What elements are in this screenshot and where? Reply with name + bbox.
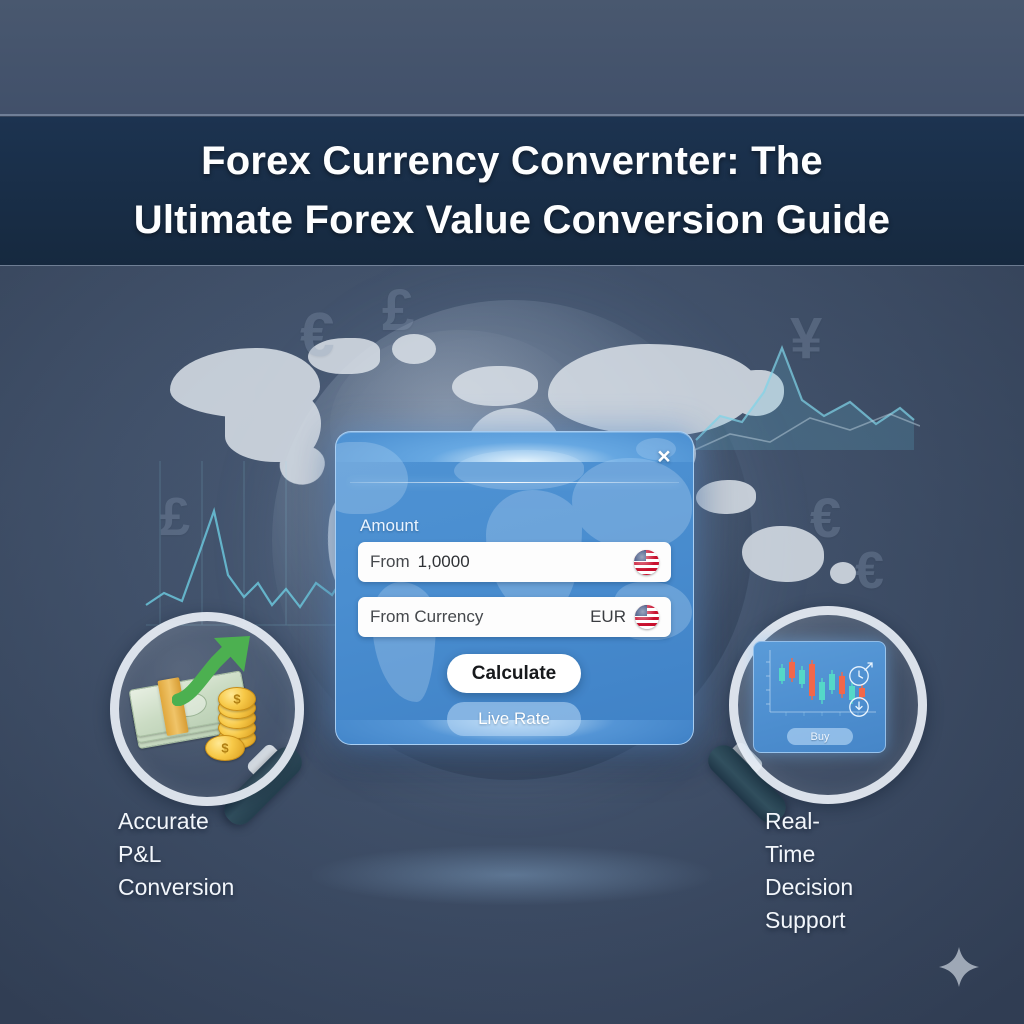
caption-line-2: Conversion: [118, 871, 234, 904]
page-title-line-1: Forex Currency Convernter: The: [201, 132, 823, 191]
currency-glyph-euro-2: €: [810, 490, 841, 546]
us-flag-icon: [635, 605, 659, 629]
from-currency-label: From Currency: [370, 607, 483, 627]
currency-glyph-pound: £: [382, 282, 414, 340]
amount-label: Amount: [360, 516, 419, 536]
calculate-button[interactable]: Calculate: [447, 654, 581, 693]
coin-icon: $: [205, 735, 245, 761]
currency-glyph-euro-3: €: [855, 545, 884, 597]
poster-canvas: £ € £ ¥ € € Forex Currency Convernter: T…: [0, 0, 1024, 1024]
amount-input-label: From: [370, 552, 410, 572]
dialog-body: Amount From 1,0000 From Currency EUR Cal…: [336, 432, 693, 744]
coin-icon: $: [218, 687, 256, 711]
caption-line-1: Real-Time: [765, 805, 853, 871]
currency-converter-dialog: × Amount From 1,0000 From Currency EUR C…: [335, 431, 694, 745]
buy-button[interactable]: Buy: [787, 728, 853, 745]
us-flag-icon: [634, 550, 659, 575]
feature-caption-accurate-pl: Accurate P&L Conversion: [118, 805, 234, 904]
top-band: [0, 0, 1024, 116]
clock-down-icon: [846, 694, 872, 720]
feature-caption-real-time: Real-Time Decision Support: [765, 805, 853, 937]
caption-line-1: Accurate P&L: [118, 805, 234, 871]
amount-input[interactable]: From 1,0000: [358, 542, 671, 582]
dialog-floor-glow: [312, 845, 712, 905]
from-currency-code: EUR: [590, 607, 626, 627]
page-title-line-2: Ultimate Forex Value Conversion Guide: [134, 191, 890, 250]
clock-up-icon: [846, 660, 876, 690]
page-title-bar: Forex Currency Convernter: The Ultimate …: [0, 117, 1024, 265]
from-currency-select[interactable]: From Currency EUR: [358, 597, 671, 637]
sparkle-icon: [938, 946, 980, 988]
live-rate-button[interactable]: Live Rate: [447, 702, 581, 736]
caption-line-2: Decision Support: [765, 871, 853, 937]
amount-input-value: 1,0000: [418, 552, 470, 572]
trading-panel: Buy: [753, 641, 886, 753]
currency-glyph-euro: €: [300, 305, 334, 367]
background-line-chart-right: [690, 330, 920, 460]
